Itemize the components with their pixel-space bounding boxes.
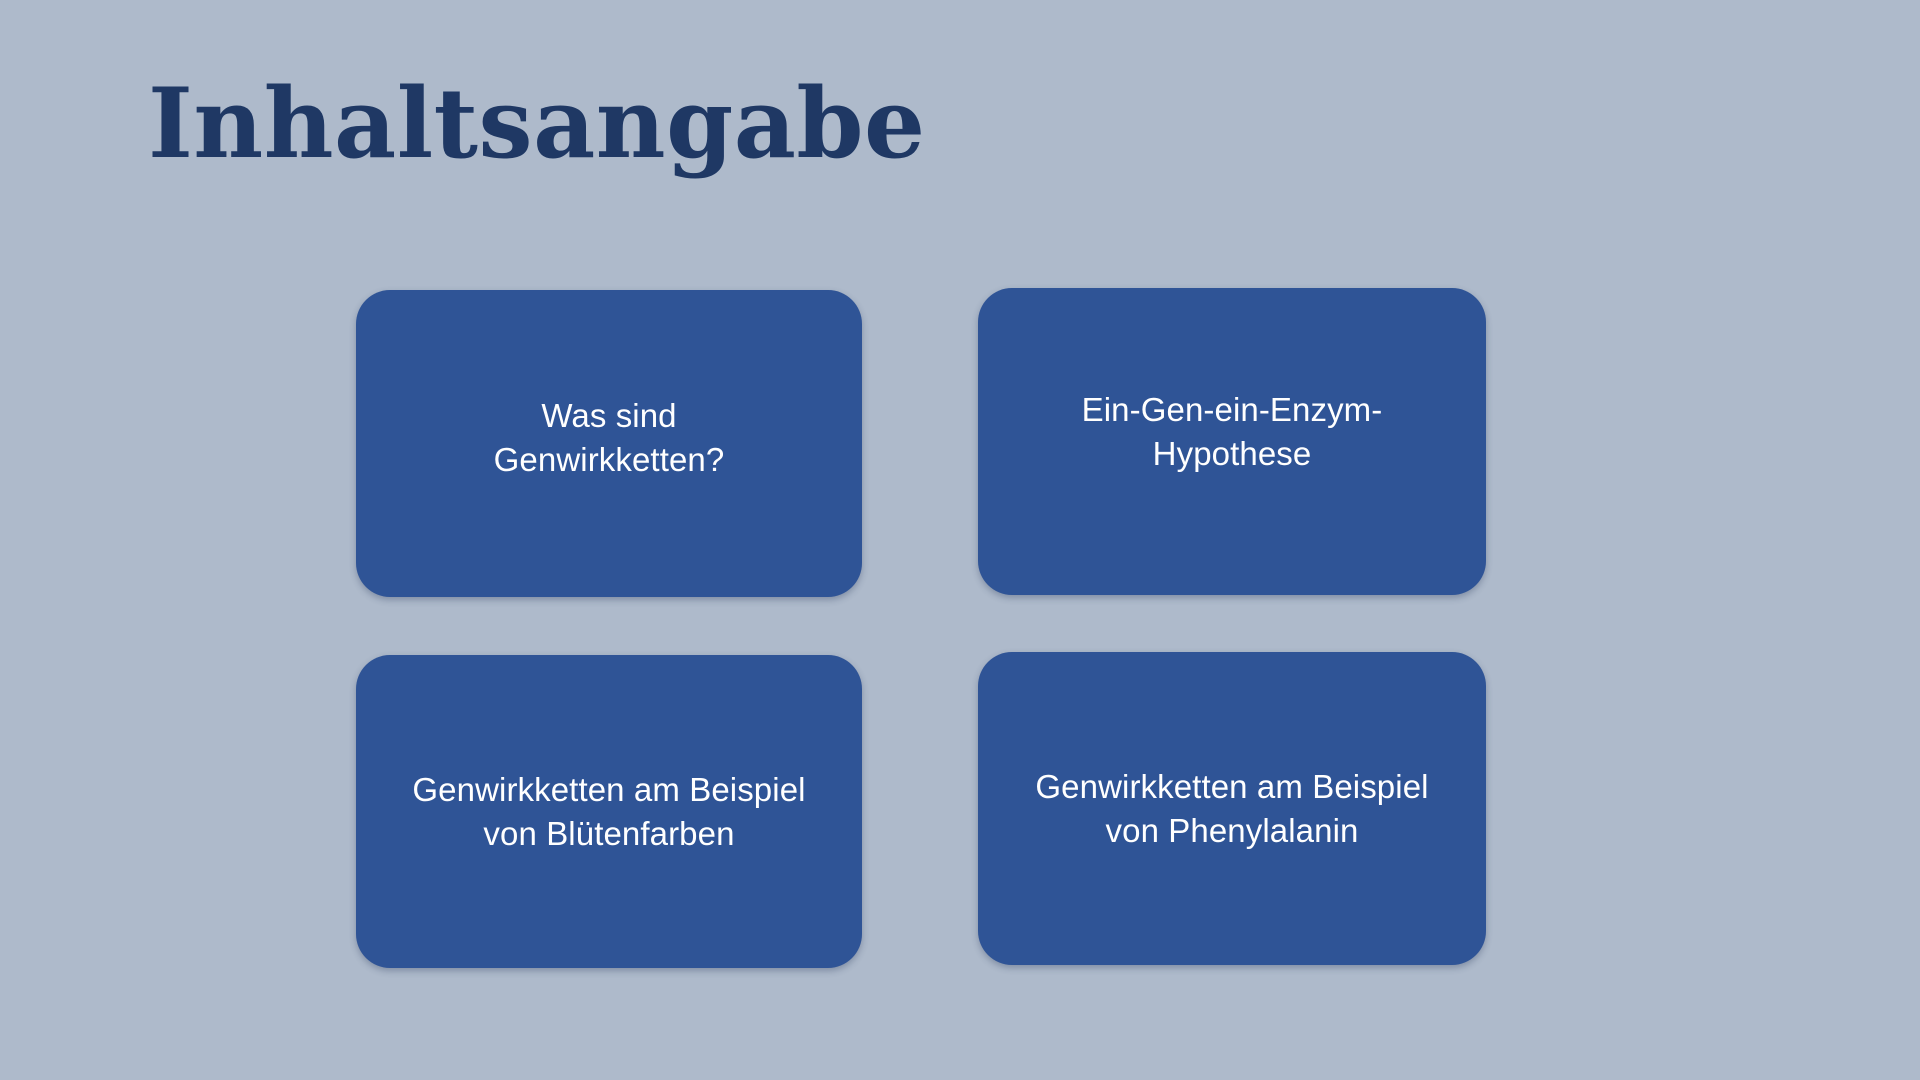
agenda-card-grid: Was sind Genwirkketten? Ein-Gen-ein-Enzy… bbox=[0, 0, 1920, 1080]
agenda-card-ein-gen-ein-enzym-hypothese[interactable]: Ein-Gen-ein-Enzym- Hypothese bbox=[978, 288, 1486, 595]
agenda-card-label: Ein-Gen-ein-Enzym- Hypothese bbox=[1082, 388, 1383, 475]
agenda-card-label: Was sind Genwirkketten? bbox=[494, 394, 725, 481]
presentation-slide: Inhaltsangabe Was sind Genwirkketten? Ei… bbox=[0, 0, 1920, 1080]
agenda-card-label: Genwirkketten am Beispiel von Phenylalan… bbox=[1035, 765, 1428, 852]
agenda-card-genwirkketten-bluetenfarben[interactable]: Genwirkketten am Beispiel von Blütenfarb… bbox=[356, 655, 862, 968]
agenda-card-label: Genwirkketten am Beispiel von Blütenfarb… bbox=[412, 768, 805, 855]
agenda-card-was-sind-genwirkketten[interactable]: Was sind Genwirkketten? bbox=[356, 290, 862, 597]
agenda-card-genwirkketten-phenylalanin[interactable]: Genwirkketten am Beispiel von Phenylalan… bbox=[978, 652, 1486, 965]
